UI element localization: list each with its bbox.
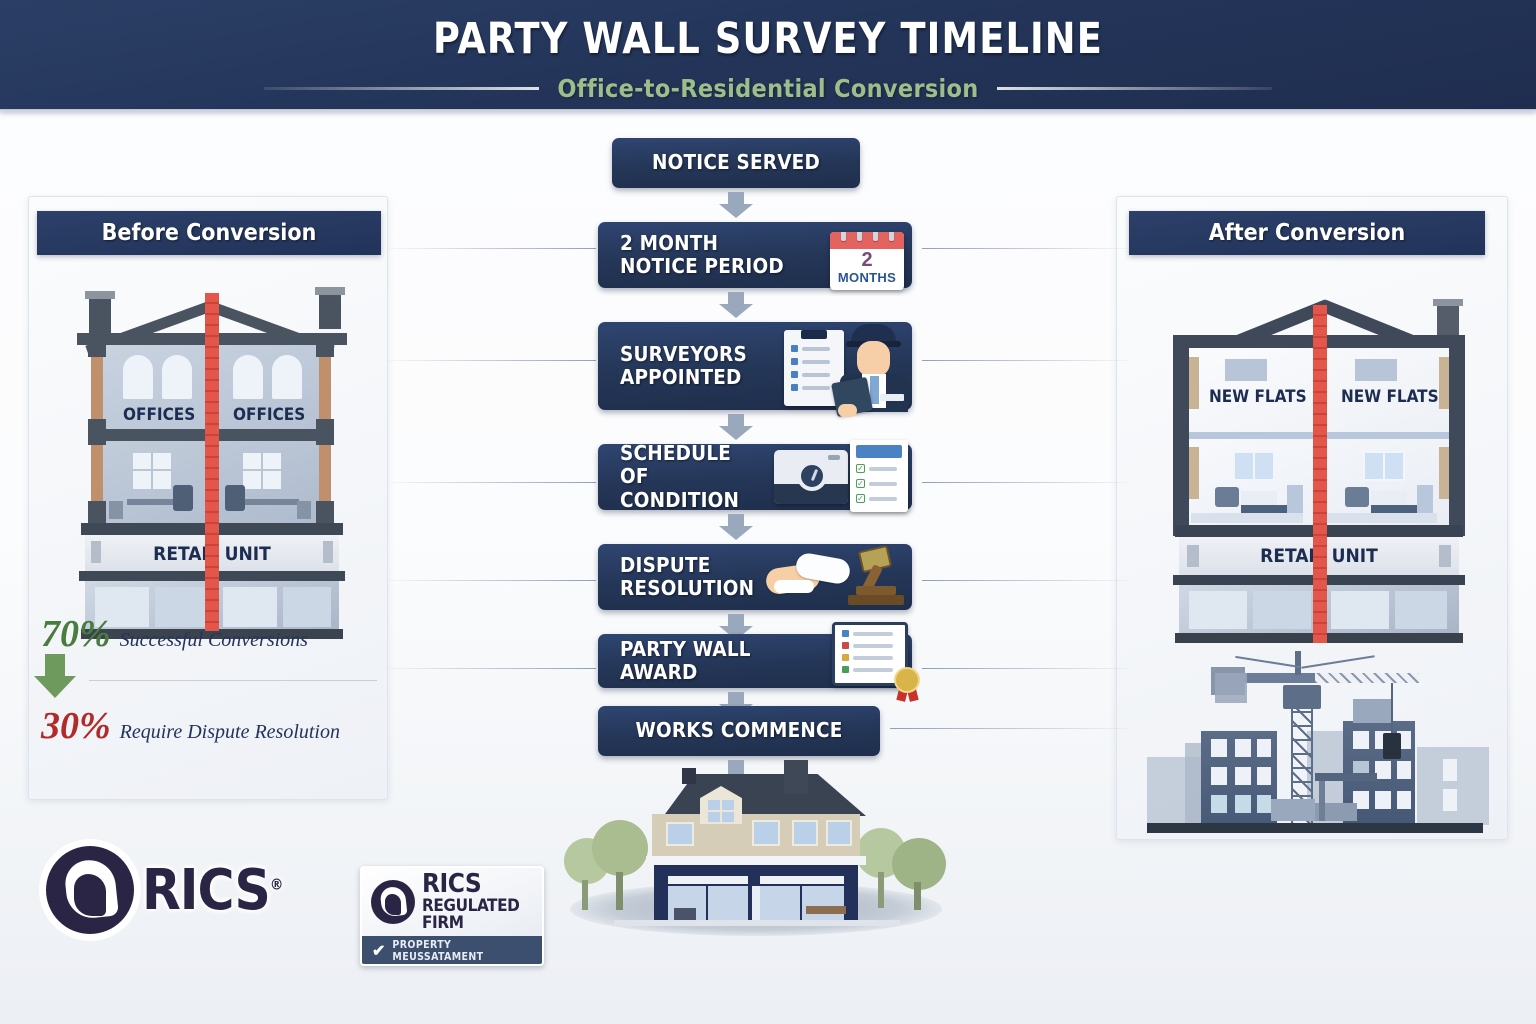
flow-step-label: NOTICE SERVED <box>612 151 860 174</box>
after-floor-label-left: NEW FLATS <box>1209 387 1307 407</box>
connector-right-3 <box>922 482 1130 483</box>
flow-step-label: DISPUTE RESOLUTION <box>598 554 754 600</box>
conversion-stats: 70% Successful Conversions 30% Require D… <box>41 615 377 745</box>
checklist-icon: ✓✓✓ <box>850 440 908 512</box>
stat-row-success: 70% Successful Conversions <box>41 615 377 653</box>
badge-lion-icon <box>371 880 415 924</box>
flow-step-notice-period[interactable]: 2 MONTH NOTICE PERIOD 2 MONTHS <box>598 222 912 288</box>
after-panel-header: After Conversion <box>1129 211 1485 255</box>
handshake-icon <box>766 554 852 600</box>
rics-lion-icon <box>46 846 134 934</box>
connector-left-4 <box>388 580 596 581</box>
flow-arrow-2 <box>719 292 753 318</box>
before-conversion-panel: Before Conversion <box>28 196 388 800</box>
flow-arrow-4 <box>719 514 753 540</box>
flow-step-notice-served[interactable]: NOTICE SERVED <box>612 138 860 188</box>
before-building-illustration: OFFICES OFFICES RETAIL UNIT <box>47 269 371 609</box>
rics-logo: RICS® <box>46 842 336 938</box>
flow-step-label: SCHEDULE OF CONDITION <box>598 442 758 511</box>
page-title: PARTY WALL SURVEY TIMELINE <box>38 14 1497 64</box>
connector-left-3 <box>388 482 596 483</box>
construction-crane-illustration <box>1125 639 1501 835</box>
flow-step-surveyors-appointed[interactable]: SURVEYORS APPOINTED <box>598 322 912 410</box>
connector-left-1 <box>388 248 596 249</box>
connector-right-4 <box>922 580 1130 581</box>
flow-step-schedule-of-condition[interactable]: SCHEDULE OF CONDITION ✓✓✓ <box>598 444 912 510</box>
flow-step-label: 2 MONTH NOTICE PERIOD <box>598 232 788 278</box>
badge-line2: REGULATED FIRM <box>422 898 542 933</box>
badge-footer-bar: ✔ PROPERTY MEUSSATAMENT <box>362 936 542 966</box>
rule-right <box>997 87 1272 90</box>
flow-step-label: PARTY WALL AWARD <box>598 638 830 684</box>
infographic-canvas: PARTY WALL SURVEY TIMELINE Office-to-Res… <box>0 0 1536 1024</box>
flow-arrow-1 <box>719 192 753 218</box>
registered-mark: ® <box>270 875 283 893</box>
after-floor-label-right: NEW FLATS <box>1341 387 1439 407</box>
badge-top: RICS REGULATED FIRM <box>362 868 542 936</box>
stat-label-dispute: Require Dispute Resolution <box>120 721 340 744</box>
flow-step-party-wall-award[interactable]: PARTY WALL AWARD <box>598 634 912 688</box>
stat-divider <box>89 680 377 681</box>
surveyor-icon <box>834 324 912 410</box>
party-wall-before <box>205 293 219 631</box>
stat-value-dispute: 30% <box>41 707 111 745</box>
stat-label-success: Successful Conversions <box>120 629 308 652</box>
after-conversion-panel: After Conversion NEW FLATS NEW FLAT <box>1116 196 1508 840</box>
connector-right-1 <box>922 248 1130 249</box>
before-panel-header: Before Conversion <box>37 211 381 255</box>
calendar-unit: MONTHS <box>830 271 904 284</box>
flow-step-works-commence[interactable]: WORKS COMMENCE <box>598 706 880 756</box>
badge-wordmark: RICS REGULATED FIRM <box>422 871 542 932</box>
flow-step-label: SURVEYORS APPOINTED <box>598 343 764 389</box>
calendar-icon: 2 MONTHS <box>830 232 904 290</box>
page-subtitle: Office-to-Residential Conversion <box>557 74 978 103</box>
connector-right-6 <box>890 728 1130 729</box>
badge-line1: RICS <box>422 871 542 898</box>
before-floor-label-left: OFFICES <box>123 405 195 425</box>
stat-value-success: 70% <box>41 615 111 653</box>
connector-left-2 <box>388 360 596 361</box>
rics-regulated-firm-badge: RICS REGULATED FIRM ✔ PROPERTY MEUSSATAM… <box>360 866 544 966</box>
certificate-icon <box>832 622 916 690</box>
flow-step-dispute-resolution[interactable]: DISPUTE RESOLUTION <box>598 544 912 610</box>
rics-wordmark: RICS® <box>142 858 282 923</box>
subtitle-row: Office-to-Residential Conversion <box>0 72 1536 104</box>
header-banner: PARTY WALL SURVEY TIMELINE Office-to-Res… <box>0 0 1536 110</box>
after-building-illustration: NEW FLATS NEW FLATS RETAIL UNIT <box>1139 257 1491 627</box>
calendar-number: 2 <box>830 249 904 271</box>
connector-right-2 <box>922 360 1130 361</box>
stat-row-dispute: 30% Require Dispute Resolution <box>41 707 377 745</box>
rule-left <box>264 87 539 90</box>
flow-step-label: WORKS COMMENCE <box>598 719 880 742</box>
gavel-icon <box>844 548 906 606</box>
badge-footer-text: PROPERTY MEUSSATAMENT <box>392 939 542 963</box>
converted-building-illustration <box>556 760 956 940</box>
flow-arrow-3 <box>719 414 753 440</box>
connector-right-5 <box>922 668 1130 669</box>
before-floor-label-right: OFFICES <box>233 405 305 425</box>
stat-divider-row <box>41 653 377 707</box>
party-wall-after <box>1313 305 1327 643</box>
connector-left-5 <box>388 668 596 669</box>
check-icon: ✔ <box>372 941 385 961</box>
camera-icon <box>774 450 848 504</box>
